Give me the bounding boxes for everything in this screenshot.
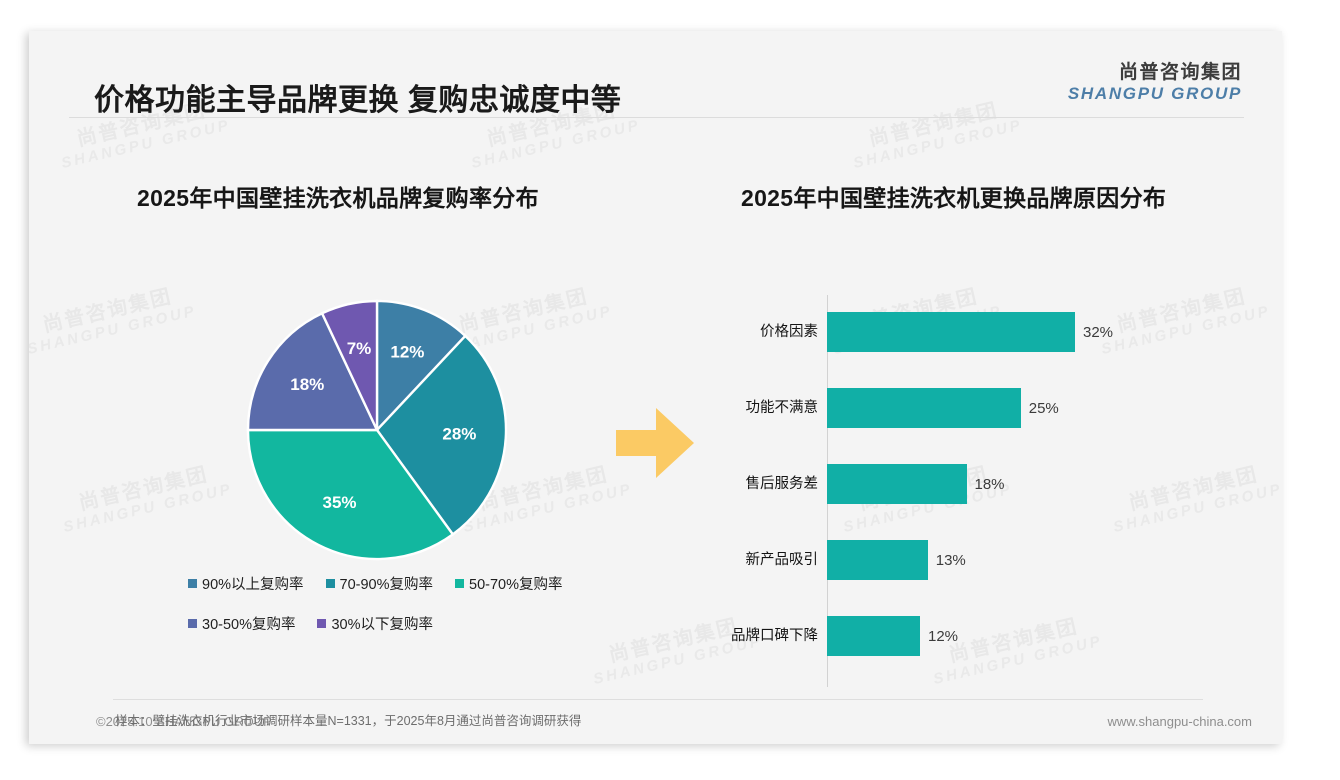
bar-category-label: 功能不满意 xyxy=(746,388,819,428)
pie-chart-title: 2025年中国壁挂洗衣机品牌复购率分布 xyxy=(137,179,539,213)
legend-swatch-icon xyxy=(317,619,326,628)
legend-item-0[interactable]: 90%以上复购率 xyxy=(188,573,304,594)
legend-swatch-icon xyxy=(188,579,197,588)
legend-item-1[interactable]: 70-90%复购率 xyxy=(326,573,433,594)
bar-category-label: 售后服务差 xyxy=(746,464,819,504)
legend-swatch-icon xyxy=(326,579,335,588)
slide-card: 尚普咨询集团 SHANGPU GROUP 尚普咨询集团 SHANGPU GROU… xyxy=(29,31,1282,744)
bar-chart-panel: 2025年中国壁挂洗衣机更换品牌原因分布 价格因素32%功能不满意25%售后服务… xyxy=(697,161,1257,671)
bar-value-label: 18% xyxy=(975,476,1005,493)
slide-header: 价格功能主导品牌更换 复购忠诚度中等 尚普咨询集团 SHANGPU GROUP xyxy=(29,31,1282,117)
brand-logo-cn: 尚普咨询集团 xyxy=(1068,62,1242,84)
arrow-right-svg xyxy=(612,400,698,486)
pie-legend-row: 90%以上复购率 70-90%复购率 50-70%复购率 xyxy=(178,573,638,594)
bar-fill[interactable] xyxy=(827,540,928,580)
bar-fill[interactable] xyxy=(827,616,920,656)
bar-row: 价格因素32% xyxy=(827,312,1113,352)
pie-slice-value: 35% xyxy=(323,493,357,512)
page-title: 价格功能主导品牌更换 复购忠诚度中等 xyxy=(94,75,621,119)
bar-value-label: 13% xyxy=(936,552,966,569)
legend-label: 50-70%复购率 xyxy=(469,573,562,594)
bar-chart: 价格因素32%功能不满意25%售后服务差18%新产品吸引13%品牌口碑下降12% xyxy=(827,291,1247,691)
bar-value-label: 12% xyxy=(928,628,958,645)
bar-fill[interactable] xyxy=(827,388,1021,428)
bar-row: 功能不满意25% xyxy=(827,388,1059,428)
brand-logo-en: SHANGPU GROUP xyxy=(1068,84,1242,104)
pie-legend-row: 30-50%复购率 30%以下复购率 xyxy=(178,613,638,634)
pie-chart-svg: 12%28%35%18%7% xyxy=(246,299,508,561)
website-link[interactable]: www.shangpu-china.com xyxy=(1107,714,1252,729)
legend-item-3[interactable]: 30-50%复购率 xyxy=(188,613,295,634)
arrow-right-icon xyxy=(612,400,698,486)
pie-slice-value: 12% xyxy=(390,343,424,362)
pie-slice-value: 18% xyxy=(290,375,324,394)
legend-swatch-icon xyxy=(455,579,464,588)
pie-legend: 90%以上复购率 70-90%复购率 50-70%复购率 30-50%复购率 xyxy=(178,573,638,653)
footnote-text: 样本：壁挂洗衣机行业市场调研样本量N=1331，于2025年8月通过尚普咨询调研… xyxy=(115,710,581,729)
bar-fill[interactable] xyxy=(827,464,967,504)
bar-row: 品牌口碑下降12% xyxy=(827,616,958,656)
bar-category-label: 品牌口碑下降 xyxy=(731,616,818,656)
legend-item-2[interactable]: 50-70%复购率 xyxy=(455,573,562,594)
brand-logo: 尚普咨询集团 SHANGPU GROUP xyxy=(1068,62,1242,104)
legend-label: 90%以上复购率 xyxy=(202,573,304,594)
bar-chart-title: 2025年中国壁挂洗衣机更换品牌原因分布 xyxy=(741,179,1166,213)
legend-label: 30-50%复购率 xyxy=(202,613,295,634)
bar-row: 新产品吸引13% xyxy=(827,540,966,580)
bar-value-label: 32% xyxy=(1083,324,1113,341)
bar-value-label: 25% xyxy=(1029,400,1059,417)
header-divider xyxy=(69,117,1244,118)
slide-footer xyxy=(0,734,1340,780)
footnote-divider xyxy=(113,699,1203,700)
slide-canvas: 尚普咨询集团 SHANGPU GROUP 尚普咨询集团 SHANGPU GROU… xyxy=(0,0,1340,780)
pie-chart: 12%28%35%18%7% xyxy=(246,299,508,561)
legend-swatch-icon xyxy=(188,619,197,628)
legend-label: 30%以下复购率 xyxy=(331,613,433,634)
pie-chart-panel: 2025年中国壁挂洗衣机品牌复购率分布 12%28%35%18%7% 90%以上… xyxy=(83,161,643,671)
legend-label: 70-90%复购率 xyxy=(340,573,433,594)
bar-fill[interactable] xyxy=(827,312,1075,352)
pie-slice-value: 7% xyxy=(347,339,372,358)
legend-item-4[interactable]: 30%以下复购率 xyxy=(317,613,433,634)
pie-slice-value: 28% xyxy=(442,425,476,444)
bar-category-label: 价格因素 xyxy=(760,312,818,352)
bar-category-label: 新产品吸引 xyxy=(746,540,819,580)
bar-row: 售后服务差18% xyxy=(827,464,1005,504)
